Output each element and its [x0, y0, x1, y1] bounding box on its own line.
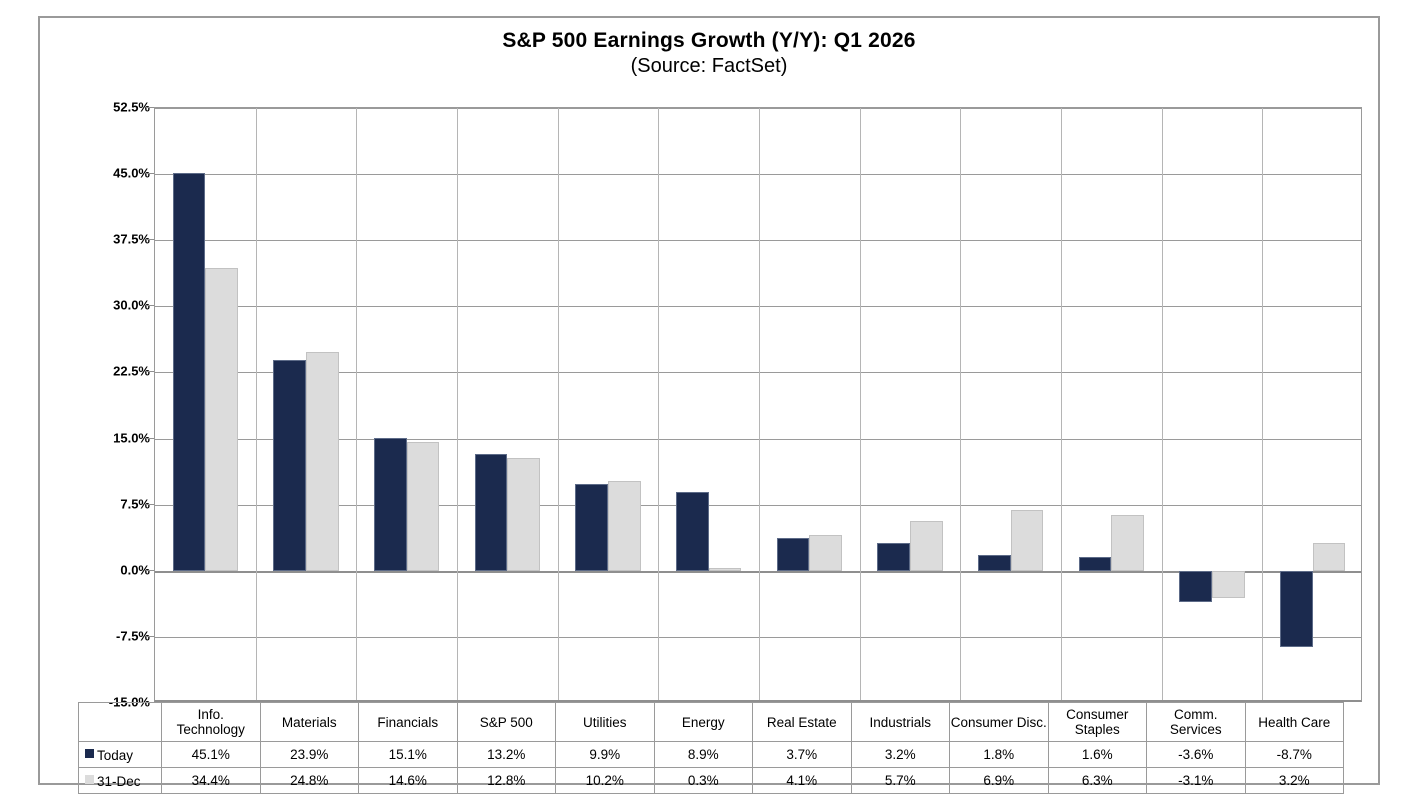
bar-today[interactable] — [676, 492, 709, 570]
chart-frame: S&P 500 Earnings Growth (Y/Y): Q1 2026 (… — [38, 16, 1380, 785]
bar-31-dec[interactable] — [205, 268, 238, 571]
y-axis-tick-mark — [146, 438, 154, 439]
table-body: Today45.1%23.9%15.1%13.2%9.9%8.9%3.7%3.2… — [79, 742, 1344, 794]
table-corner-cell — [79, 703, 162, 742]
bar-today[interactable] — [978, 555, 1011, 571]
bar-today[interactable] — [374, 438, 407, 571]
y-axis-tick-label: 45.0% — [46, 166, 150, 181]
table-column-header: Materials — [260, 703, 359, 742]
bar-31-dec[interactable] — [910, 521, 943, 571]
legend-item-31-dec: 31-Dec — [79, 768, 162, 794]
legend-swatch-icon — [85, 749, 94, 758]
bar-31-dec[interactable] — [1313, 543, 1346, 571]
bar-31-dec[interactable] — [306, 352, 339, 571]
bar-group — [676, 108, 741, 700]
bar-31-dec[interactable] — [1011, 510, 1044, 571]
y-axis-tick-label: 37.5% — [46, 232, 150, 247]
table-cell-value: 15.1% — [359, 742, 458, 768]
y-axis-tick-mark — [146, 504, 154, 505]
bar-group — [1179, 108, 1244, 700]
table-cell-value: 34.4% — [162, 768, 261, 794]
table-cell-value: 3.7% — [753, 742, 852, 768]
y-axis-tick-label: 30.0% — [46, 298, 150, 313]
y-axis: 52.5%45.0%37.5%30.0%22.5%15.0%7.5%0.0%-7… — [40, 107, 150, 702]
y-axis-tick-label: 52.5% — [46, 100, 150, 115]
bar-31-dec[interactable] — [507, 458, 540, 571]
table-row: Today45.1%23.9%15.1%13.2%9.9%8.9%3.7%3.2… — [79, 742, 1344, 768]
gridline-vertical — [960, 108, 961, 700]
bar-group — [374, 108, 439, 700]
bar-group — [575, 108, 640, 700]
y-axis-tick-mark — [146, 570, 154, 571]
legend-label: Today — [97, 747, 133, 762]
table-row: 31-Dec34.4%24.8%14.6%12.8%10.2%0.3%4.1%5… — [79, 768, 1344, 794]
table-cell-value: 1.8% — [950, 742, 1049, 768]
table-column-header: Real Estate — [753, 703, 852, 742]
bar-today[interactable] — [1079, 557, 1112, 571]
table-header-row: Info. TechnologyMaterialsFinancialsS&P 5… — [79, 703, 1344, 742]
legend-label: 31-Dec — [97, 773, 141, 788]
table-cell-value: 5.7% — [851, 768, 950, 794]
gridline-vertical — [759, 108, 760, 700]
bar-group — [273, 108, 338, 700]
y-axis-tick-label: 15.0% — [46, 430, 150, 445]
table-cell-value: -3.1% — [1147, 768, 1246, 794]
bar-31-dec[interactable] — [608, 481, 641, 571]
table-column-header: Consumer Disc. — [950, 703, 1049, 742]
bar-group — [777, 108, 842, 700]
table-cell-value: 6.3% — [1048, 768, 1147, 794]
gridline-vertical — [256, 108, 257, 700]
table-cell-value: 12.8% — [457, 768, 556, 794]
table-cell-value: -8.7% — [1245, 742, 1344, 768]
table-column-header: Consumer Staples — [1048, 703, 1147, 742]
gridline-vertical — [356, 108, 357, 700]
table-column-header: Utilities — [556, 703, 655, 742]
y-axis-tick-mark — [146, 107, 154, 108]
bar-today[interactable] — [1280, 571, 1313, 648]
plot-area — [154, 107, 1362, 702]
y-axis-tick-mark — [146, 173, 154, 174]
table-cell-value: 24.8% — [260, 768, 359, 794]
bar-31-dec[interactable] — [1212, 571, 1245, 598]
table-cell-value: 3.2% — [851, 742, 950, 768]
table-column-header: Info. Technology — [162, 703, 261, 742]
bar-group — [173, 108, 238, 700]
data-table: Info. TechnologyMaterialsFinancialsS&P 5… — [78, 702, 1344, 794]
table-cell-value: 8.9% — [654, 742, 753, 768]
bar-group — [1280, 108, 1345, 700]
y-axis-tick-mark — [146, 636, 154, 637]
bar-today[interactable] — [475, 454, 508, 570]
table-cell-value: 6.9% — [950, 768, 1049, 794]
plot-wrap — [154, 107, 1362, 702]
table-column-header: Financials — [359, 703, 458, 742]
table-cell-value: 13.2% — [457, 742, 556, 768]
table-header: Info. TechnologyMaterialsFinancialsS&P 5… — [79, 703, 1344, 742]
bar-today[interactable] — [575, 484, 608, 571]
table-column-header: Industrials — [851, 703, 950, 742]
table-cell-value: 3.2% — [1245, 768, 1344, 794]
table-column-header: Health Care — [1245, 703, 1344, 742]
table-cell-value: 4.1% — [753, 768, 852, 794]
legend-swatch-icon — [85, 775, 94, 784]
bar-31-dec[interactable] — [1111, 515, 1144, 571]
bar-today[interactable] — [877, 543, 910, 571]
y-axis-tick-label: -7.5% — [46, 628, 150, 643]
bar-group — [978, 108, 1043, 700]
bar-31-dec[interactable] — [709, 568, 742, 571]
title-block: S&P 500 Earnings Growth (Y/Y): Q1 2026 (… — [40, 28, 1378, 78]
bar-today[interactable] — [1179, 571, 1212, 603]
y-axis-tick-label: 0.0% — [46, 562, 150, 577]
chart-subtitle: (Source: FactSet) — [40, 54, 1378, 78]
table-cell-value: 1.6% — [1048, 742, 1147, 768]
bar-group — [475, 108, 540, 700]
table-cell-value: 10.2% — [556, 768, 655, 794]
y-axis-tick-mark — [146, 371, 154, 372]
y-axis-tick-label: 7.5% — [46, 496, 150, 511]
bar-today[interactable] — [273, 360, 306, 571]
bar-today[interactable] — [173, 173, 206, 571]
table-cell-value: 45.1% — [162, 742, 261, 768]
gridline-vertical — [1061, 108, 1062, 700]
table-cell-value: 0.3% — [654, 768, 753, 794]
bar-31-dec[interactable] — [809, 535, 842, 571]
table-cell-value: 14.6% — [359, 768, 458, 794]
gridline-vertical — [1162, 108, 1163, 700]
table-column-header: S&P 500 — [457, 703, 556, 742]
page-title: S&P 500 Earnings Growth (Y/Y): Q1 2026 — [40, 28, 1378, 54]
gridline-vertical — [1262, 108, 1263, 700]
bar-31-dec[interactable] — [407, 442, 440, 571]
bar-group — [1079, 108, 1144, 700]
table-cell-value: -3.6% — [1147, 742, 1246, 768]
gridline-vertical — [457, 108, 458, 700]
legend-item-today: Today — [79, 742, 162, 768]
table-column-header: Comm. Services — [1147, 703, 1246, 742]
table-column-header: Energy — [654, 703, 753, 742]
gridline-vertical — [558, 108, 559, 700]
bar-today[interactable] — [777, 538, 810, 571]
gridline-vertical — [860, 108, 861, 700]
y-axis-tick-mark — [146, 305, 154, 306]
y-axis-tick-mark — [146, 239, 154, 240]
y-axis-tick-label: 22.5% — [46, 364, 150, 379]
bar-group — [877, 108, 942, 700]
gridline-vertical — [658, 108, 659, 700]
table-cell-value: 9.9% — [556, 742, 655, 768]
table-cell-value: 23.9% — [260, 742, 359, 768]
